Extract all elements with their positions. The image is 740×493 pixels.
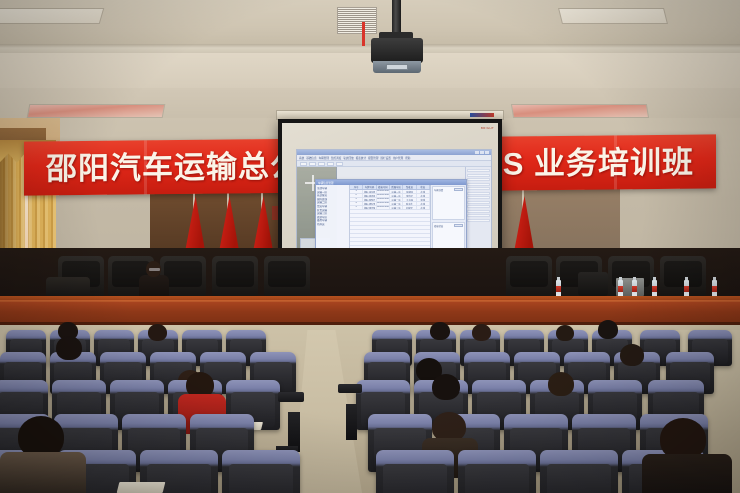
grid-cell: 13800138005 bbox=[377, 206, 390, 209]
toolbar-button[interactable] bbox=[327, 162, 334, 166]
detail-side-pane: 车辆详情 终端状态 bbox=[430, 185, 466, 257]
toolbar-button[interactable] bbox=[300, 162, 307, 166]
grid-cell: 李伟民 bbox=[403, 194, 416, 197]
menu-item[interactable]: 帮助 bbox=[405, 156, 410, 160]
menu-item[interactable]: 系统 bbox=[299, 156, 304, 160]
locate-button[interactable] bbox=[454, 224, 463, 227]
fleet-tree[interactable]: 全部车辆 运输一队 长途客运 城际班线 运输二队 货运车辆 危货运输 运输三队 … bbox=[316, 185, 350, 257]
attendee-shoulders bbox=[0, 452, 86, 493]
menu-item[interactable]: 车辆管理 bbox=[319, 156, 329, 160]
banner-text-right: S 业务培训班 bbox=[503, 146, 694, 179]
maximize-icon[interactable] bbox=[480, 151, 484, 154]
grid-cell: 4 bbox=[350, 202, 363, 205]
projector-pole bbox=[392, 0, 401, 34]
grid-cell: 运输三队 bbox=[390, 206, 403, 209]
close-icon[interactable] bbox=[485, 151, 489, 154]
grid-cell: 离线 bbox=[417, 198, 430, 201]
minimize-icon[interactable] bbox=[475, 151, 479, 154]
rail-item[interactable] bbox=[467, 219, 490, 222]
ceiling-light-panel bbox=[558, 8, 668, 24]
grid-cell: 在线 bbox=[417, 194, 430, 197]
bottle-label bbox=[684, 286, 689, 292]
auditorium-scene: 邵阳汽车运输总公 S 业务培训班 BRIGHT 系统 基础信息 车辆管理 bbox=[0, 0, 740, 493]
attendee-head bbox=[472, 324, 491, 341]
stage-chair bbox=[212, 256, 258, 296]
grid-cell: 13800138003 bbox=[377, 198, 390, 201]
table-row[interactable] bbox=[350, 242, 430, 246]
ceiling-middle bbox=[0, 53, 740, 89]
stage-chair bbox=[506, 256, 552, 296]
attendee-head bbox=[598, 320, 618, 339]
toolbar-button[interactable] bbox=[318, 162, 325, 166]
air-vent bbox=[337, 7, 377, 34]
grid-cell: 湘E·34567 bbox=[363, 198, 376, 201]
water-bottle bbox=[632, 280, 637, 297]
ceiling-light-panel bbox=[27, 104, 166, 118]
grid-cell: 2 bbox=[350, 194, 363, 197]
attendee-shoulders bbox=[642, 454, 732, 493]
vehicle-detail-box: 车辆详情 bbox=[432, 186, 465, 220]
grid-cell: 湘E·23456 bbox=[363, 194, 376, 197]
attendee-head bbox=[56, 336, 82, 360]
attendee-head bbox=[556, 325, 574, 341]
toolbar-button[interactable] bbox=[336, 162, 343, 166]
rail-item[interactable] bbox=[467, 178, 490, 181]
rail-item[interactable] bbox=[467, 174, 490, 177]
water-bottle bbox=[618, 280, 623, 297]
menu-item[interactable]: 报表统计 bbox=[356, 156, 366, 160]
rail-item[interactable] bbox=[467, 196, 490, 199]
banner-text-left: 邵阳汽车运输总公 bbox=[46, 150, 302, 184]
menu-item[interactable]: 轨迹回放 bbox=[343, 156, 353, 160]
seat-leg bbox=[346, 404, 357, 440]
rail-item[interactable] bbox=[467, 192, 490, 195]
grid-cell: 湘E·12345 bbox=[363, 190, 376, 193]
grid-cell: 3 bbox=[350, 198, 363, 201]
rail-item[interactable] bbox=[467, 214, 490, 217]
grid-cell: 1 bbox=[350, 190, 363, 193]
grid-cell: 运输二队 bbox=[390, 202, 403, 205]
grid-cell: 刘建军 bbox=[403, 206, 416, 209]
grid-cell: 13800138004 bbox=[377, 202, 390, 205]
seat-armrest bbox=[278, 392, 304, 402]
writing-tablet bbox=[117, 482, 166, 493]
seat bbox=[222, 450, 300, 493]
grid-cell: 在线 bbox=[417, 190, 430, 193]
grid-cell: 运输二队 bbox=[390, 198, 403, 201]
rail-item[interactable] bbox=[467, 183, 490, 186]
water-bottle bbox=[556, 280, 561, 297]
grid-cell: 在线 bbox=[417, 206, 430, 209]
grid-header-cell: 车牌号码 bbox=[363, 185, 376, 189]
refresh-button[interactable] bbox=[454, 188, 463, 191]
vehicle-detail-label: 车辆详情 bbox=[434, 188, 443, 192]
bottle-label bbox=[556, 286, 561, 292]
grid-cell: 湘E·56789 bbox=[363, 206, 376, 209]
stage-chair bbox=[660, 256, 706, 296]
grid-cell: 陈海生 bbox=[403, 202, 416, 205]
attendee-head bbox=[430, 322, 450, 340]
grid-cell: 张建国 bbox=[403, 190, 416, 193]
rail-item[interactable] bbox=[467, 201, 490, 204]
rail-item[interactable] bbox=[467, 187, 490, 190]
screen-brand-text: BRIGHT bbox=[481, 126, 494, 130]
projector-icon bbox=[371, 38, 423, 63]
grid-cell: 湘E·45678 bbox=[363, 202, 376, 205]
bottle-label bbox=[652, 286, 657, 292]
toolbar-button[interactable] bbox=[309, 162, 316, 166]
ceiling-light-panel bbox=[0, 8, 104, 24]
menu-item[interactable]: 基础信息 bbox=[306, 156, 316, 160]
water-bottle bbox=[652, 280, 657, 297]
grid-cell: 5 bbox=[350, 206, 363, 209]
menu-item[interactable]: 监控调度 bbox=[331, 156, 341, 160]
seat bbox=[376, 450, 454, 493]
projector-lens bbox=[386, 64, 408, 70]
bottle-label bbox=[618, 286, 623, 292]
grid-cell: 运输一队 bbox=[390, 194, 403, 197]
menu-item[interactable]: 围栏设置 bbox=[380, 156, 390, 160]
grid-header-cell: 序号 bbox=[350, 185, 363, 189]
grid-header-cell: 状态 bbox=[417, 185, 430, 189]
grid-cell: 在线 bbox=[417, 202, 430, 205]
attendee-head bbox=[548, 372, 574, 396]
grid-cell: 运输一队 bbox=[390, 190, 403, 193]
attendee-head bbox=[620, 344, 644, 366]
seat bbox=[458, 450, 536, 493]
attendee-head bbox=[148, 324, 167, 341]
vent-ribbon bbox=[362, 22, 365, 46]
terminal-status-label: 终端状态 bbox=[434, 224, 443, 228]
rail-item[interactable] bbox=[467, 210, 490, 213]
dialog-title: 车辆信息管理 bbox=[318, 181, 334, 185]
grid-cell: 13800138002 bbox=[377, 194, 390, 197]
grid-header-cell: 驾驶员 bbox=[403, 185, 416, 189]
grid-cell: 13800138001 bbox=[377, 190, 390, 193]
grid-header-cell: 所属车队 bbox=[390, 185, 403, 189]
bottle-label bbox=[632, 286, 637, 292]
stage-chair bbox=[264, 256, 310, 296]
attendee-head bbox=[432, 374, 460, 400]
ceiling-light-panel bbox=[511, 104, 649, 118]
grid-header-cell: 终端号码 bbox=[377, 185, 390, 189]
water-bottle bbox=[712, 280, 717, 297]
grid-cell: 王志强 bbox=[403, 198, 416, 201]
vehicle-grid[interactable]: 序号 车牌号码 终端号码 所属车队 驾驶员 状态 1 湘E·12345 bbox=[350, 185, 430, 257]
screen-brand-logo bbox=[470, 113, 494, 117]
tree-node[interactable]: 已停运 bbox=[317, 223, 348, 227]
rail-item[interactable] bbox=[467, 205, 490, 208]
seat-armrest bbox=[338, 384, 362, 393]
seat bbox=[540, 450, 618, 493]
menu-item[interactable]: 报警管理 bbox=[368, 156, 378, 160]
video-camera bbox=[578, 272, 608, 296]
glasses-icon bbox=[149, 268, 160, 271]
menu-item[interactable]: 用户管理 bbox=[393, 156, 403, 160]
dialog-body: 全部车辆 运输一队 长途客运 城际班线 运输二队 货运车辆 危货运输 运输三队 … bbox=[316, 185, 466, 257]
rail-item[interactable] bbox=[467, 169, 490, 172]
water-bottle bbox=[684, 280, 689, 297]
bottle-label bbox=[712, 286, 717, 292]
